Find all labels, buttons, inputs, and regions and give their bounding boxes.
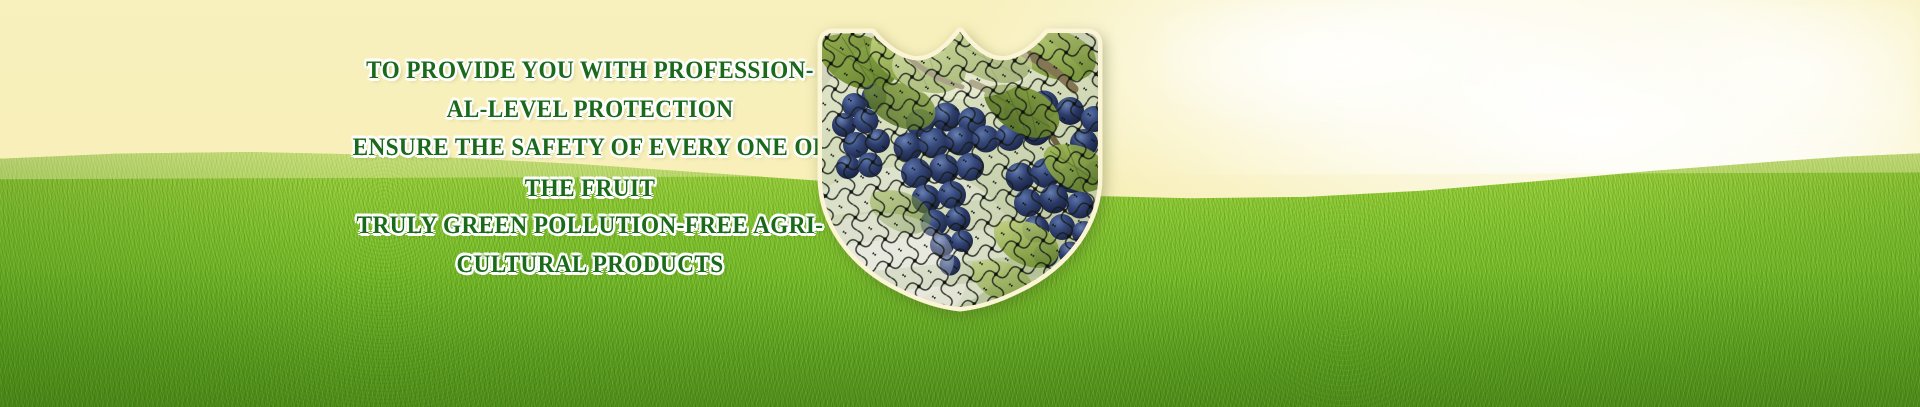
headline-line-5: TRULY GREEN POLLUTION-FREE AGRI- bbox=[330, 208, 851, 244]
shield-photo-content bbox=[812, 27, 1108, 313]
shield-grape-graphic bbox=[812, 27, 1108, 313]
headline-line-3: ENSURE THE SAFETY OF EVERY ONE OF bbox=[330, 129, 851, 168]
headline-line-1: TO PROVIDE YOU WITH PROFESSION- bbox=[330, 52, 851, 91]
headline-line-6: CULTURAL PRODUCTS bbox=[330, 246, 851, 285]
headline-line-2: AL-LEVEL PROTECTION bbox=[330, 91, 851, 130]
hero-banner: TO PROVIDE YOU WITH PROFESSION- AL-LEVEL… bbox=[0, 0, 1920, 407]
headline-line-4: THE FRUIT bbox=[330, 170, 851, 209]
headline-text-block: TO PROVIDE YOU WITH PROFESSION- AL-LEVEL… bbox=[310, 52, 870, 285]
shield-emblem bbox=[812, 27, 1108, 313]
